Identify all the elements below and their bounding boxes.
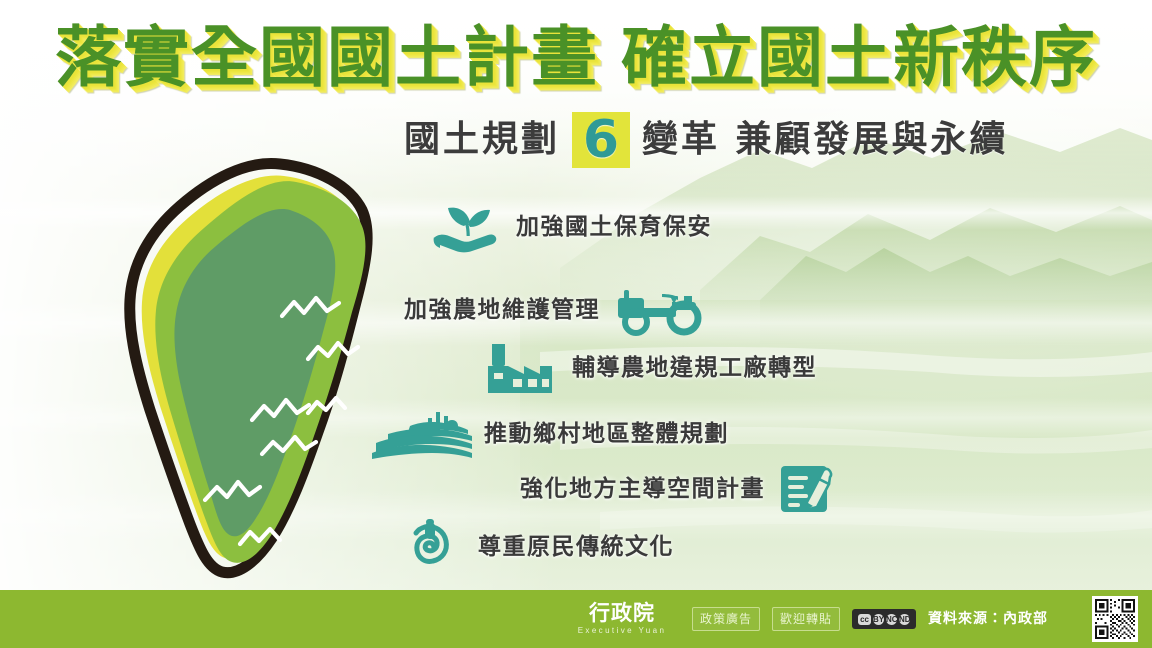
- list-item-5-label: 強化地方主導空間計畫: [520, 474, 765, 504]
- cc-chip-nc: NC: [886, 614, 897, 625]
- creative-commons-badge: cc BY NC ND: [852, 609, 916, 629]
- footer-bar: 行政院 Executive Yuan 政策廣告 歡迎轉貼 cc BY NC ND…: [0, 590, 1152, 648]
- cc-chip-cc: cc: [858, 614, 871, 625]
- list-item-6-label: 尊重原民傳統文化: [478, 532, 674, 562]
- data-source-text: 資料來源：內政部: [928, 611, 1048, 627]
- list-item-4[interactable]: 推動鄉村地區整體規劃: [370, 408, 729, 460]
- cc-chip-nd: ND: [899, 614, 910, 625]
- list-item-4-label: 推動鄉村地區整體規劃: [484, 419, 729, 449]
- list-item-2[interactable]: 加強農地維護管理: [404, 282, 706, 338]
- list-item-3-label: 輔導農地違規工廠轉型: [572, 353, 817, 383]
- headline-part-1: 落實全國國土計畫: [55, 19, 599, 96]
- poster-headline: 落實全國國土計畫確立國土新秩序: [0, 22, 1152, 94]
- tractor-icon: [612, 282, 706, 338]
- measures-list: 加強國土保育保安 加強農地維護管理: [370, 190, 890, 570]
- factory-icon: [480, 340, 558, 396]
- footer-content: 行政院 Executive Yuan 政策廣告 歡迎轉貼 cc BY NC ND…: [560, 590, 1152, 648]
- poster-root: 落實全國國土計畫確立國土新秩序 國土規劃 6 變革 兼顧發展與永續: [0, 0, 1152, 648]
- hand-sprout-icon: [428, 198, 502, 256]
- list-item-2-label: 加強農地維護管理: [404, 295, 600, 325]
- executive-yuan-logo-cn: 行政院: [589, 602, 655, 624]
- headline-part-2: 確立國土新秩序: [621, 19, 1097, 96]
- policy-ad-tag[interactable]: 政策廣告: [692, 607, 760, 631]
- document-pencil-icon: [777, 462, 835, 516]
- list-item-6[interactable]: 尊重原民傳統文化: [400, 514, 674, 580]
- subtitle-number-badge: 6: [572, 112, 630, 168]
- executive-yuan-logo: 行政院 Executive Yuan: [564, 602, 680, 636]
- farm-field-icon: [370, 408, 474, 460]
- list-item-5[interactable]: 強化地方主導空間計畫: [520, 462, 835, 516]
- list-item-1[interactable]: 加強國土保育保安: [428, 198, 712, 256]
- spiral-snake-icon: [400, 514, 466, 580]
- subtitle-after: 變革 兼顧發展與永續: [642, 118, 1009, 162]
- list-item-3[interactable]: 輔導農地違規工廠轉型: [480, 340, 817, 396]
- executive-yuan-logo-en: Executive Yuan: [578, 626, 667, 636]
- list-item-1-label: 加強國土保育保安: [516, 212, 712, 242]
- cc-chip-by: BY: [873, 614, 884, 625]
- qr-code[interactable]: [1092, 596, 1138, 642]
- share-welcome-tag[interactable]: 歡迎轉貼: [772, 607, 840, 631]
- poster-subtitle: 國土規劃 6 變革 兼顧發展與永續: [404, 112, 1009, 168]
